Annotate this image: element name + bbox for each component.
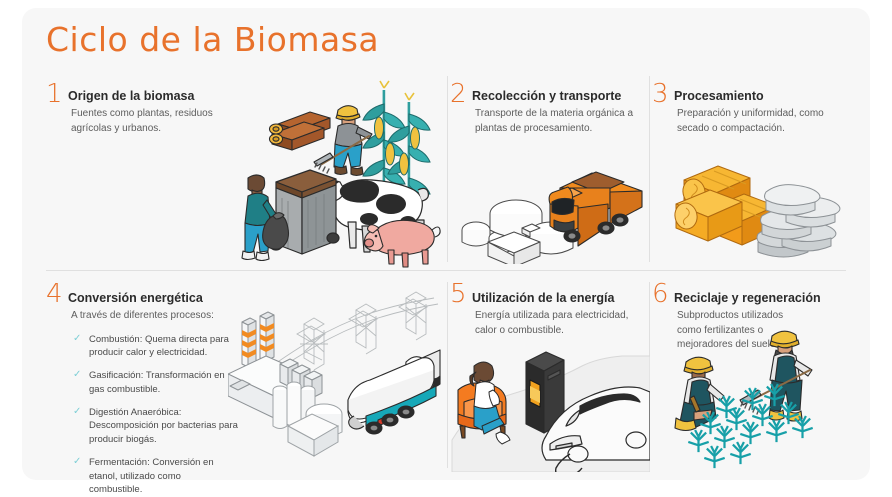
step-card-4[interactable]: 4 Conversión energética A través de dife… [46, 274, 446, 472]
step-card-1[interactable]: 1 Origen de la biomasa Fuentes como plan… [46, 72, 446, 268]
infographic-card: Ciclo de la Biomasa 1 Origen de la bioma… [22, 8, 870, 480]
step-desc-4: A través de diferentes procesos: [68, 309, 258, 324]
step-title-3: Procesamiento [674, 88, 846, 104]
list-item: ✓ Fermentación: Conversión en etanol, ut… [72, 456, 232, 497]
step-card-6[interactable]: 6 Reciclaje y regeneración Subproductos … [652, 274, 846, 472]
step-3-header: 3 Procesamiento Preparación y uniformida… [652, 72, 846, 136]
check-icon: ✓ [73, 334, 82, 343]
steps-row-bottom: 4 Conversión energética A través de dife… [46, 274, 846, 472]
step-title-4: Conversión energética [68, 290, 446, 306]
step-4-bullet-list: ✓ Combustión: Quema directa para produci… [68, 333, 446, 497]
step-number-2: 2 [450, 81, 467, 107]
step-number-5: 5 [450, 281, 467, 307]
step-card-3[interactable]: 3 Procesamiento Preparación y uniformida… [652, 72, 846, 268]
step-card-2[interactable]: 2 Recolección y transporte Transporte de… [450, 72, 646, 268]
bullet-text: Combustión: Quema directa para producir … [89, 334, 229, 359]
step-title-6: Reciclaje y regeneración [674, 290, 846, 306]
step-5-header: 5 Utilización de la energía Energía util… [450, 274, 646, 338]
bullet-text: Gasificación: Transformación en gas comb… [89, 370, 225, 395]
step-title-1: Origen de la biomasa [68, 88, 446, 104]
step-number-1: 1 [46, 81, 63, 107]
illustration-utilizacion-energia [450, 340, 650, 472]
step-6-header: 6 Reciclaje y regeneración Subproductos … [652, 274, 846, 353]
illustration-procesamiento [662, 146, 848, 262]
list-item: ✓ Digestión Anaeróbica: Descomposición p… [72, 406, 242, 447]
step-number-3: 3 [652, 81, 669, 107]
list-item: ✓ Gasificación: Transformación en gas co… [72, 369, 242, 397]
step-title-2: Recolección y transporte [472, 88, 646, 104]
step-desc-5: Energía utilizada para electricidad, cal… [472, 309, 642, 338]
step-desc-2: Transporte de la materia orgánica a plan… [472, 107, 640, 136]
step-number-4: 4 [46, 281, 63, 307]
steps-row-top: 1 Origen de la biomasa Fuentes como plan… [46, 72, 846, 268]
step-desc-6: Subproductos utilizados como fertilizant… [674, 309, 804, 353]
page-title: Ciclo de la Biomasa [46, 20, 379, 59]
illustration-recoleccion-transporte [454, 146, 646, 264]
divider-horizontal [46, 270, 846, 271]
step-1-header: 1 Origen de la biomasa Fuentes como plan… [46, 72, 446, 136]
step-4-header: 4 Conversión energética A través de dife… [46, 274, 446, 497]
step-desc-1: Fuentes como plantas, residuos agrícolas… [68, 107, 243, 136]
check-icon: ✓ [73, 370, 82, 379]
list-item: ✓ Combustión: Quema directa para produci… [72, 333, 242, 361]
check-icon: ✓ [73, 457, 82, 466]
step-number-6: 6 [652, 281, 669, 307]
steps-grid: 1 Origen de la biomasa Fuentes como plan… [46, 72, 846, 472]
step-2-header: 2 Recolección y transporte Transporte de… [450, 72, 646, 136]
check-icon: ✓ [73, 407, 82, 416]
step-desc-3: Preparación y uniformidad, como secado o… [674, 107, 844, 136]
step-card-5[interactable]: 5 Utilización de la energía Energía util… [450, 274, 646, 472]
step-title-5: Utilización de la energía [472, 290, 646, 306]
bullet-text: Digestión Anaeróbica: Descomposición por… [89, 407, 238, 446]
bullet-text: Fermentación: Conversión en etanol, util… [89, 457, 214, 496]
